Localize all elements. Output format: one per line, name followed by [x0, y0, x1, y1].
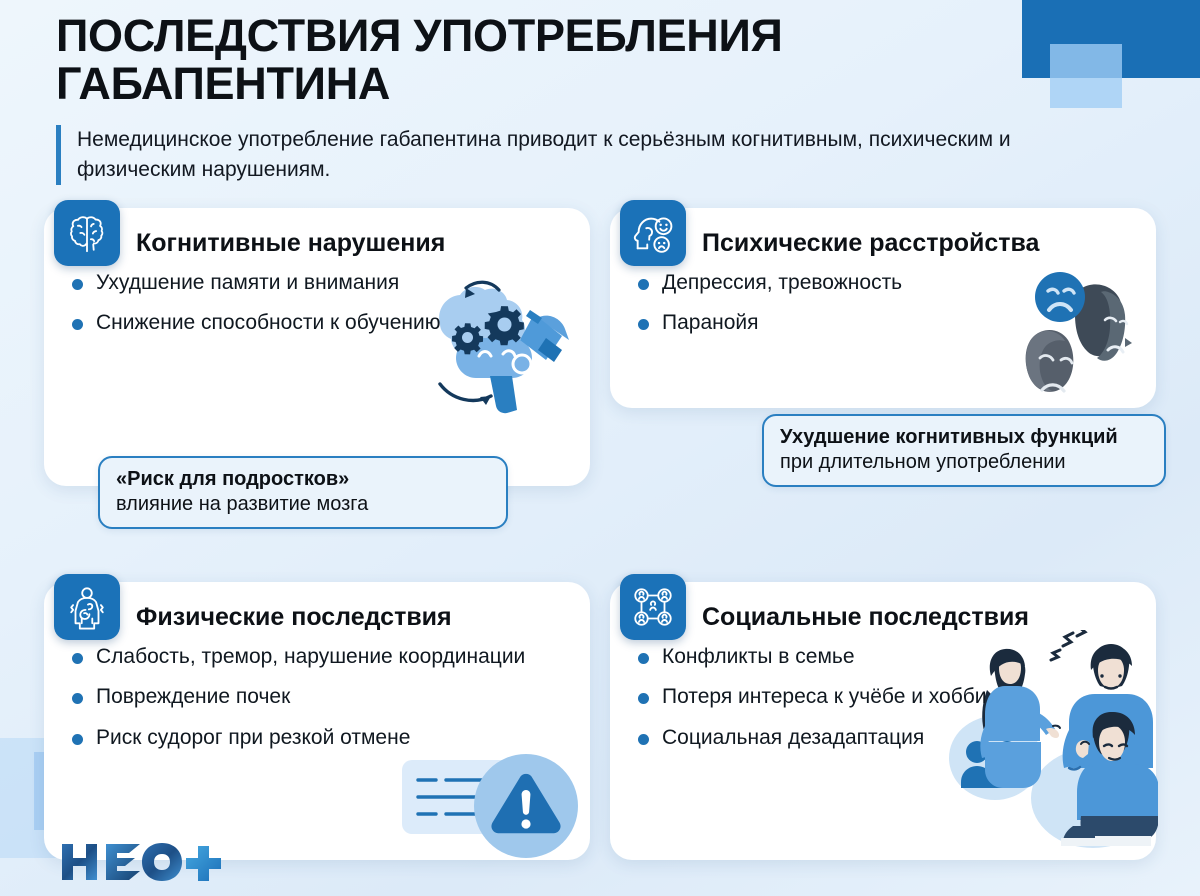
brain-icon [54, 200, 120, 266]
card-social[interactable]: Социальные последствия [610, 582, 1156, 860]
card-title-social: Социальные последствия [702, 604, 1138, 632]
list-item: Повреждение почек [70, 684, 564, 710]
head-emotions-icon [620, 200, 686, 266]
card-column-physical: Физические последствия Слабость, тремор,… [44, 508, 590, 860]
card-title-cognitive: Когнитивные нарушения [136, 230, 572, 258]
callout-teens: «Риск для подростков» влияние на развити… [98, 456, 508, 529]
list-item: Паранойя [636, 310, 1130, 336]
decorative-square-top-right-light [1050, 44, 1122, 108]
warning-triangle-illustration [402, 744, 582, 862]
list-item: Ухудшение памяти и внимания [70, 270, 564, 296]
bullet-list-psychological: Депрессия, тревожность Паранойя [636, 270, 1130, 337]
list-item: Слабость, тремор, нарушение координации [70, 644, 564, 670]
bullet-list-physical: Слабость, тремор, нарушение координации … [70, 644, 564, 751]
subtitle: Немедицинское употребление габапентина п… [77, 125, 1016, 185]
card-physical[interactable]: Физические последствия Слабость, тремор,… [44, 582, 590, 860]
body-organs-icon [54, 574, 120, 640]
cards-grid: Когнитивные нарушения [0, 208, 1200, 860]
social-network-icon [620, 574, 686, 640]
card-psychological[interactable]: Психические расстройства Депрессия [610, 208, 1156, 408]
bullet-list-cognitive: Ухудшение памяти и внимания Снижение спо… [70, 270, 564, 337]
list-item: Конфликты в семье [636, 644, 1130, 670]
list-item: Риск судорог при резкой отмене [70, 725, 564, 751]
card-title-physical: Физические последствия [136, 604, 572, 632]
card-cognitive[interactable]: Когнитивные нарушения [44, 208, 590, 486]
card-column-social: Социальные последствия [610, 508, 1156, 860]
list-item: Социальная дезадаптация [636, 725, 1130, 751]
callout-longterm-rest: при длительном употреблении [780, 451, 1066, 473]
card-title-psychological: Психические расстройства [702, 230, 1138, 258]
list-item: Снижение способности к обучению [70, 310, 564, 336]
callout-teens-bold: «Риск для подростков» [116, 468, 349, 490]
page-title: ПОСЛЕДСТВИЯ УПОТРЕБЛЕНИЯ ГАБАПЕНТИНА [56, 12, 1056, 107]
callout-longterm: Ухудшение когнитивных функций при длител… [762, 414, 1166, 487]
header: ПОСЛЕДСТВИЯ УПОТРЕБЛЕНИЯ ГАБАПЕНТИНА Нем… [56, 12, 1056, 185]
callout-longterm-bold: Ухудшение когнитивных функций [780, 426, 1118, 448]
card-column-cognitive: Когнитивные нарушения [44, 208, 590, 486]
bullet-list-social: Конфликты в семье Потеря интереса к учёб… [636, 644, 1130, 751]
callout-teens-rest: влияние на развитие мозга [116, 493, 368, 515]
list-item: Депрессия, тревожность [636, 270, 1130, 296]
subtitle-container: Немедицинское употребление габапентина п… [56, 125, 1016, 185]
list-item: Потеря интереса к учёбе и хобби [636, 684, 1130, 710]
logo-neo-plus[interactable] [58, 840, 228, 884]
card-column-psychological: Психические расстройства Депрессия [610, 208, 1156, 486]
